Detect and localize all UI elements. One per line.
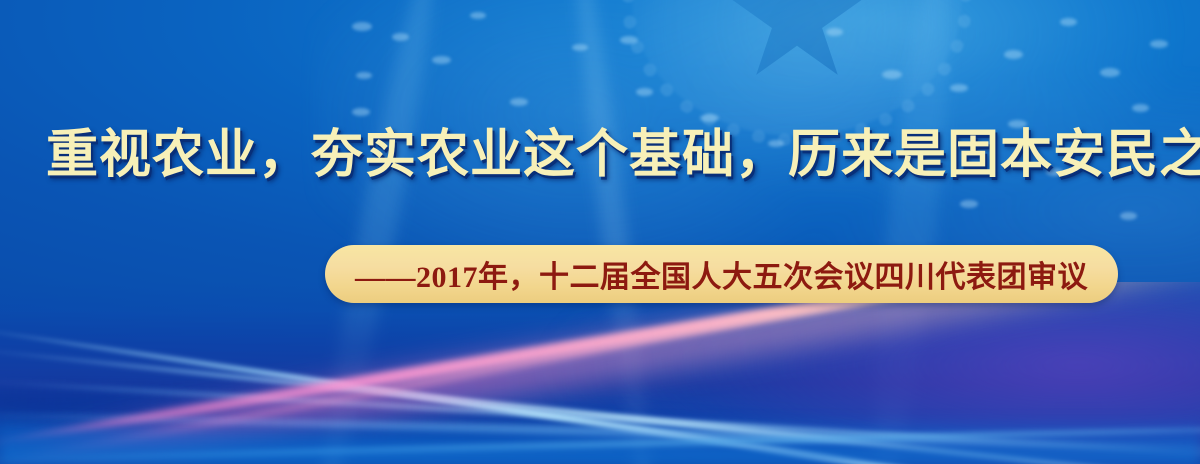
bottom-blue-glow xyxy=(0,418,1200,464)
light-speck xyxy=(1150,40,1168,48)
banner-root: 重视农业，夯实农业这个基础，历来是固本安民之要 ——2017年，十二届全国人大五… xyxy=(0,0,1200,464)
light-speck xyxy=(636,88,653,96)
light-speck xyxy=(700,114,719,122)
light-speck xyxy=(510,98,528,106)
light-speck xyxy=(1100,68,1120,77)
light-speck xyxy=(1060,18,1077,26)
light-speck xyxy=(352,108,370,116)
light-speck xyxy=(620,36,638,44)
banner-title: 重视农业，夯实农业这个基础，历来是固本安民之要 xyxy=(46,130,1156,182)
light-speck xyxy=(1004,50,1023,59)
attribution-text: ——2017年，十二届全国人大五次会议四川代表团审议 xyxy=(355,252,1088,296)
light-speck xyxy=(1120,212,1137,220)
star-emblem-icon xyxy=(632,0,962,136)
light-speck xyxy=(826,28,843,36)
light-speck xyxy=(470,12,486,19)
light-speck xyxy=(356,72,372,79)
light-speck xyxy=(352,22,372,31)
light-speck xyxy=(432,56,451,64)
light-speck xyxy=(1132,104,1149,112)
light-speck xyxy=(950,84,968,92)
light-speck xyxy=(572,44,588,51)
light-speck xyxy=(882,70,902,79)
attribution-pill: ——2017年，十二届全国人大五次会议四川代表团审议 xyxy=(325,245,1118,303)
light-speck xyxy=(392,33,409,41)
light-rays-section xyxy=(0,282,1200,464)
light-speck xyxy=(960,200,978,208)
